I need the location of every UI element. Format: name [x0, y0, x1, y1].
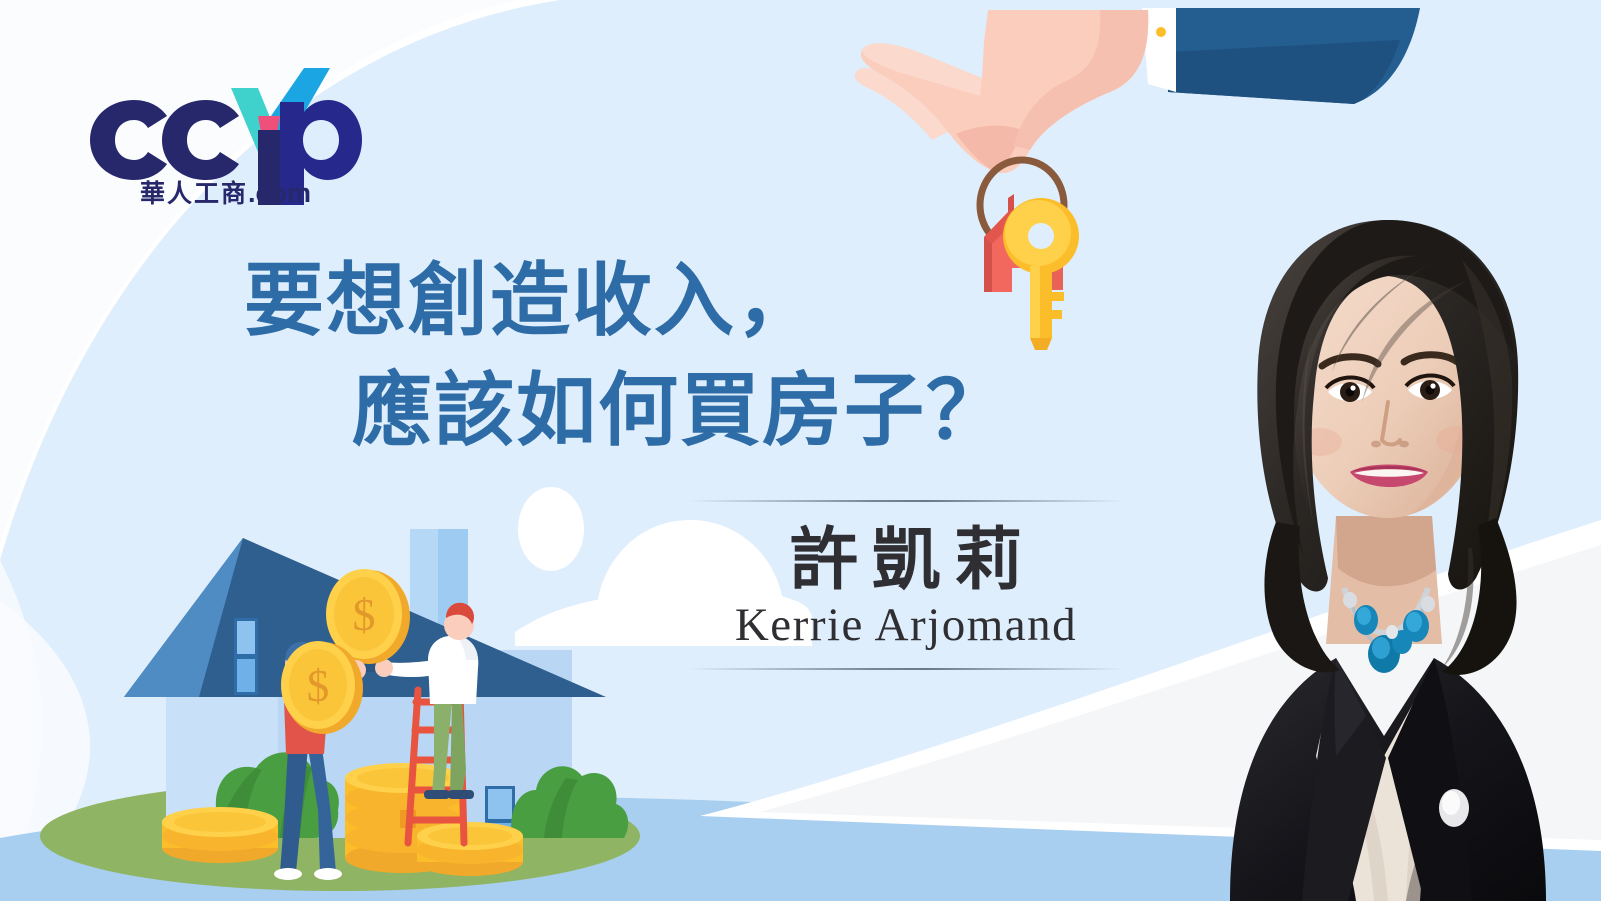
logo-letter-c2 [162, 100, 239, 180]
cuff-button [1156, 27, 1166, 37]
logo-chinese-tagline: 華人工商 [140, 179, 248, 208]
house-keychain [1008, 194, 1014, 212]
logo-domain: .com [248, 178, 311, 208]
speaker-english-name: Kerrie Arjomand [688, 599, 1124, 668]
promo-banner: $ $ [0, 0, 1601, 901]
speaker-name-block: 許凱莉 Kerrie Arjomand [688, 500, 1124, 670]
headline-line-1: 要想創造收入， [244, 246, 1144, 356]
divider-bottom [688, 668, 1124, 670]
speaker-chinese-name: 許凱莉 [688, 502, 1124, 599]
page-title: 要想創造收入， 應該如何買房子？ [244, 246, 1144, 467]
ccyp-logo[interactable]: 華人工商 .com [72, 60, 362, 210]
logo-letter-c1 [90, 100, 167, 180]
headline-line-2: 應該如何買房子？ [244, 356, 1144, 466]
speaker-portrait [1216, 196, 1552, 901]
